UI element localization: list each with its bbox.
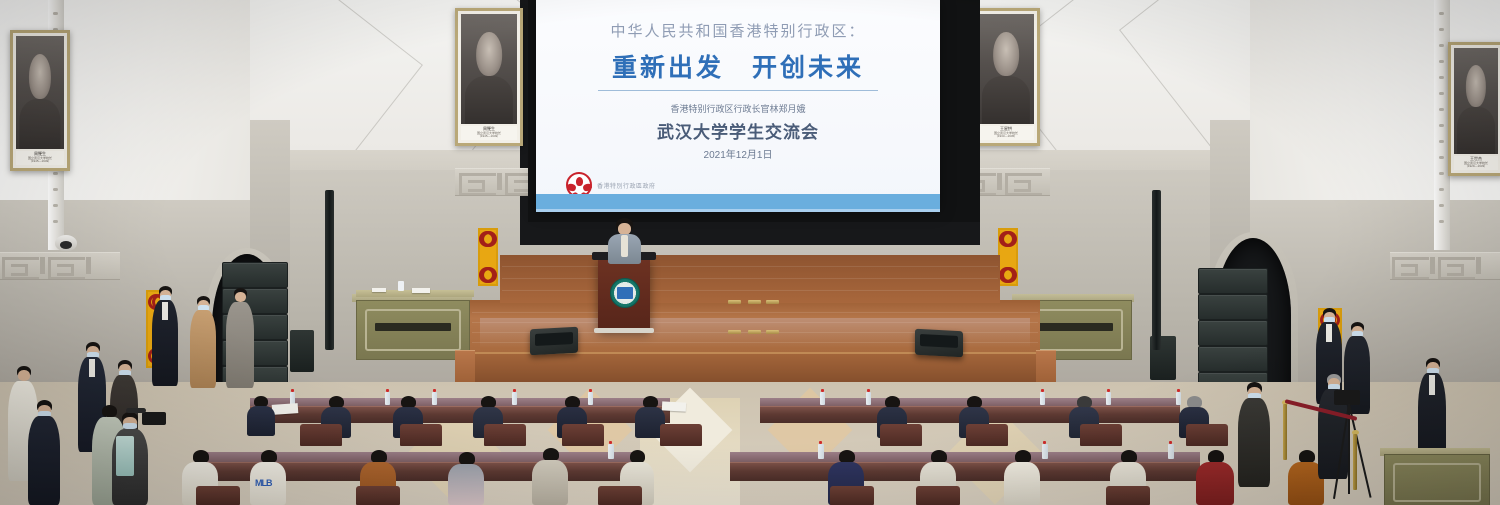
floor-monitor-left — [530, 327, 578, 356]
portrait-far-right: 王世杰 国立武汉大学校长 （1929—1933） — [1448, 42, 1500, 176]
slide-event: 武汉大学学生交流会 — [536, 118, 940, 143]
slide-accent-band — [536, 194, 940, 212]
hand-sanitizer — [398, 281, 404, 291]
standing-staff-left-7 — [28, 400, 60, 505]
audience-row2-seat5 — [532, 448, 568, 505]
water-bottle — [818, 444, 824, 459]
portrait-left: 周鲠生 国立武汉大学校长 （1945—1949） — [455, 8, 523, 146]
chair[interactable] — [484, 424, 526, 446]
column-speaker-left — [325, 190, 334, 350]
camera-mic — [126, 408, 146, 413]
water-bottle — [432, 392, 437, 405]
frieze-far-right — [1390, 252, 1500, 280]
stage-brass-inlay — [766, 330, 779, 334]
audience-row2-seat2: MLB — [250, 450, 286, 505]
videographer-left — [112, 412, 148, 505]
slide-divider — [598, 90, 878, 91]
chair[interactable] — [966, 424, 1008, 446]
chair[interactable] — [660, 424, 702, 446]
stage-brass-inlay — [766, 300, 779, 304]
chair[interactable] — [300, 424, 342, 446]
portrait-far-left: 周鲠生 国立武汉大学校长 （1945—1949） — [10, 30, 70, 171]
water-bottle — [588, 392, 593, 405]
chair[interactable] — [830, 486, 874, 505]
wall-ornament-stage-left — [478, 228, 498, 286]
video-camera-right — [1334, 390, 1360, 405]
standing-staff-left-2 — [190, 296, 216, 388]
water-bottle — [1040, 392, 1045, 405]
standing-staff-left-3 — [226, 288, 254, 388]
audience-row2-seat9 — [1004, 450, 1040, 505]
standing-staff-left-1 — [152, 286, 178, 386]
slide-line1: 中华人民共和国香港特别行政区： — [536, 20, 940, 41]
audience-row2-seat4 — [448, 452, 484, 505]
portrait-right: 王星拱 国立武汉大学校长 （1933—1945） — [972, 8, 1040, 146]
video-camera-left — [142, 412, 166, 425]
paper-stack — [412, 288, 430, 293]
stage-brass-inlay — [728, 300, 741, 304]
stage-brass-inlay — [728, 330, 741, 334]
wuhan-university-seal-icon — [610, 278, 640, 308]
speaker-at-podium — [604, 218, 644, 262]
audience-row1-seat1 — [246, 396, 276, 436]
stage-upper-deck — [500, 255, 1000, 303]
subwoofer-left — [290, 330, 314, 372]
chair[interactable] — [1186, 424, 1228, 446]
chair[interactable] — [1106, 486, 1150, 505]
chair[interactable] — [400, 424, 442, 446]
paper-stack — [372, 288, 386, 292]
chair[interactable] — [880, 424, 922, 446]
chair[interactable] — [356, 486, 400, 505]
podium — [598, 258, 650, 330]
water-bottle — [512, 392, 517, 405]
portrait-years: （1945—1949） — [461, 135, 517, 139]
chair[interactable] — [562, 424, 604, 446]
water-bottle — [1106, 392, 1111, 405]
cabinet-left — [356, 300, 470, 360]
dome-camera-icon — [55, 235, 77, 251]
auditorium-scene: 周鲠生 国立武汉大学校长 （1945—1949） 周鲠生 国立武汉大学校长 （1… — [0, 0, 1500, 505]
portrait-years: （1945—1949） — [16, 160, 64, 164]
slide-date: 2021年12月1日 — [536, 146, 940, 161]
stage-brass-inlay — [748, 330, 761, 334]
water-bottle — [820, 392, 825, 405]
audience-row2-seat11 — [1196, 450, 1234, 505]
chair[interactable] — [598, 486, 642, 505]
portrait-years: （1929—1933） — [1454, 165, 1498, 169]
water-bottle — [385, 392, 390, 405]
floor-monitor-right — [915, 329, 963, 358]
podium-base — [594, 328, 654, 333]
frieze-far-left — [0, 252, 120, 280]
slide-headline: 重新出发 开创未来 — [536, 48, 940, 84]
stage-brass-inlay — [748, 300, 761, 304]
portrait-years: （1933—1945） — [978, 135, 1034, 139]
column-speaker-right — [1152, 190, 1161, 350]
wall-ornament-stage-right — [998, 228, 1018, 286]
chair[interactable] — [196, 486, 240, 505]
chair[interactable] — [916, 486, 960, 505]
water-bottle — [866, 392, 871, 405]
standing-staff-right-5 — [1238, 382, 1270, 487]
bench-row1-left — [250, 406, 670, 423]
water-bottle — [1168, 444, 1174, 459]
chair[interactable] — [1080, 424, 1122, 446]
projection-screen: 中华人民共和国香港特别行政区： 重新出发 开创未来 香港特别行政区行政长官林郑月… — [536, 0, 940, 212]
water-bottle — [608, 444, 614, 459]
water-bottle — [1042, 444, 1048, 459]
slide-speaker-title: 香港特别行政区行政长官林郑月娥 — [536, 102, 940, 115]
reception-cabinet-right — [1384, 454, 1490, 505]
hk-logo-text: 香港特別行政區政府 — [597, 181, 656, 190]
